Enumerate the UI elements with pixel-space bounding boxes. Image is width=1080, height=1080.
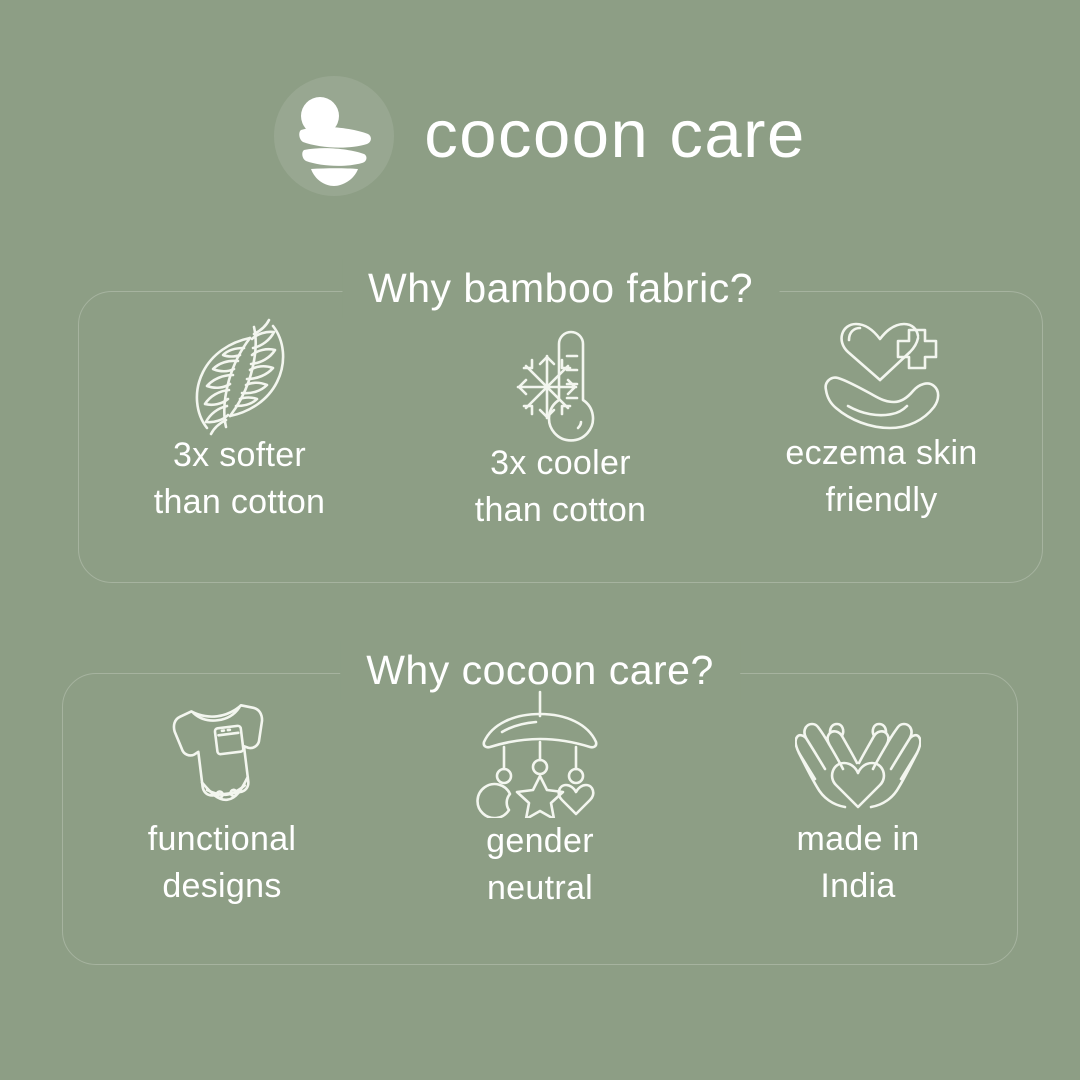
feature-eczema-skin-friendly: eczema skin friendly <box>721 292 1042 527</box>
feathers-icon <box>178 292 302 418</box>
feature-row: functional designs <box>63 674 1017 964</box>
hands-holding-heart-icon <box>795 678 921 804</box>
feature-label: functional designs <box>148 800 297 909</box>
feature-row: 3x softer than cotton <box>79 292 1042 582</box>
feature-3x-softer: 3x softer than cotton <box>79 292 400 527</box>
feature-label: 3x cooler than cotton <box>475 424 647 533</box>
feature-label: eczema skin friendly <box>785 414 977 523</box>
feature-label: made in India <box>796 800 919 909</box>
baby-onesie-icon <box>155 674 289 800</box>
section-why-cocoon-care: Why cocoon care? <box>62 673 1018 965</box>
hand-heart-medical-cross-icon <box>818 290 946 416</box>
feature-functional-designs: functional designs <box>63 674 381 909</box>
baby-mobile-icon <box>474 672 606 798</box>
feature-label: gender neutral <box>486 802 594 911</box>
section-why-bamboo-fabric: Why bamboo fabric? <box>78 291 1043 583</box>
feature-3x-cooler: 3x cooler than cotton <box>400 292 721 527</box>
brand-header: cocoon care <box>0 72 1080 200</box>
feature-label: 3x softer than cotton <box>154 416 326 525</box>
promo-graphic: cocoon care Why bamboo fabric? <box>0 0 1080 1080</box>
feature-made-in-india: made in India <box>699 674 1017 909</box>
feature-gender-neutral: gender neutral <box>381 674 699 909</box>
thermometer-snowflake-icon <box>502 300 620 426</box>
brand-name: cocoon care <box>424 101 806 172</box>
cocoon-sun-bowl-logo-icon <box>274 76 394 196</box>
